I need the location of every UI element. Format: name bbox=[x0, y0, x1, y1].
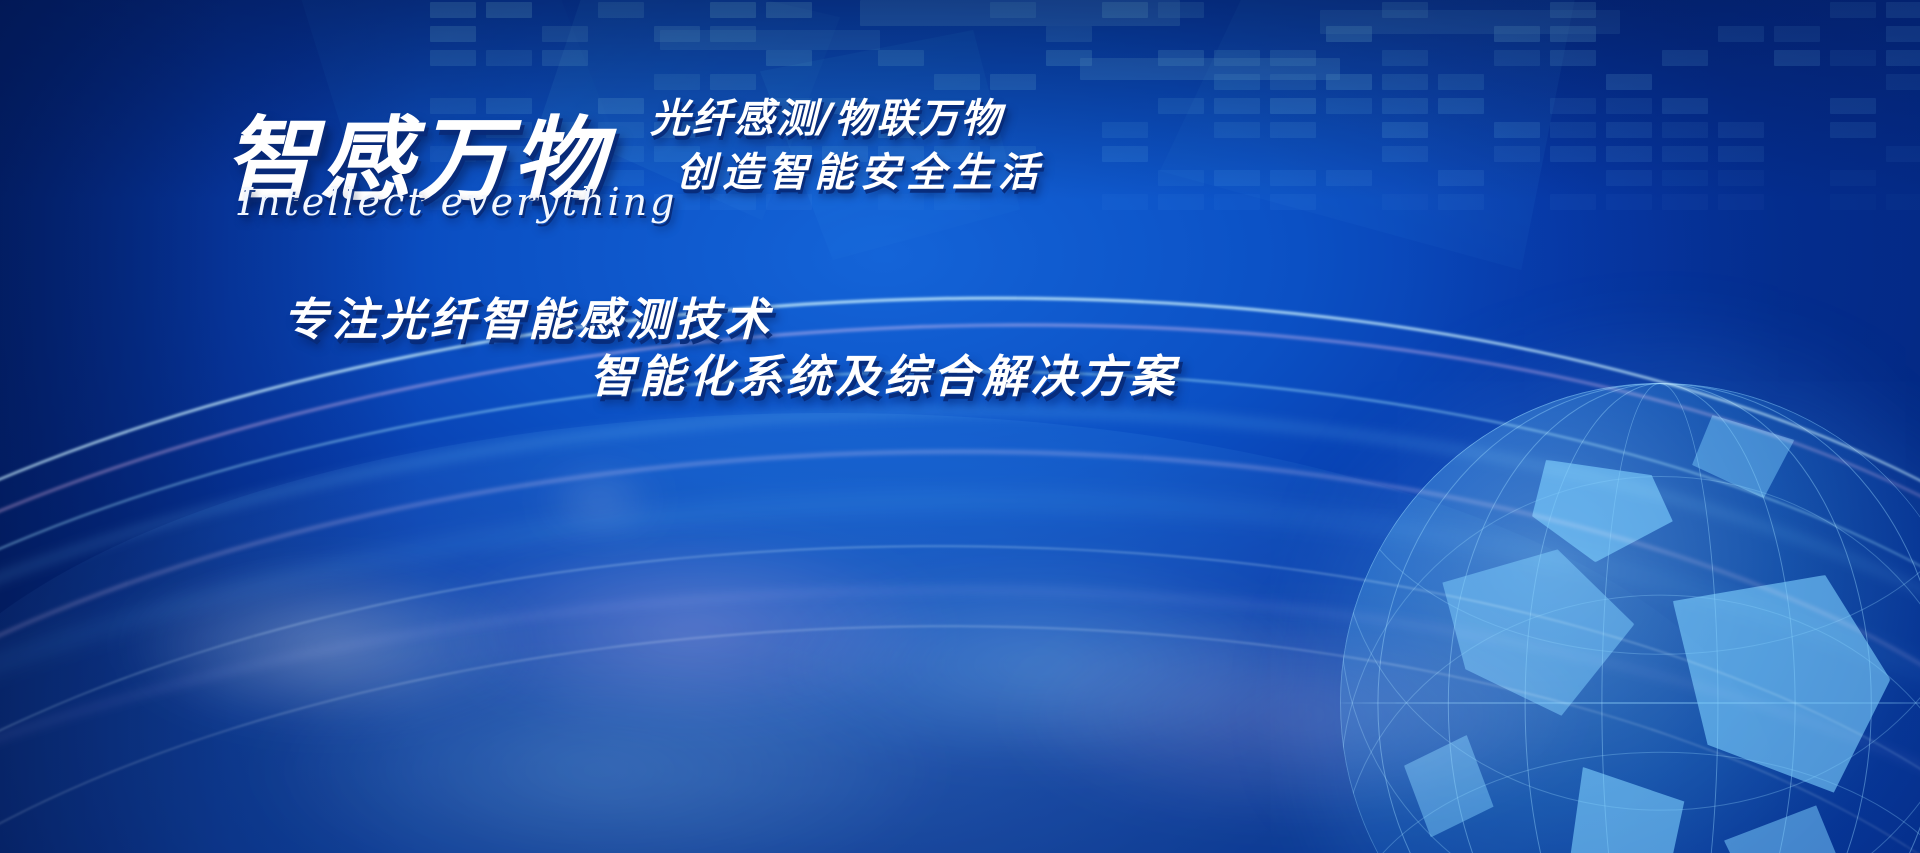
slogan-line-1: 光纤感测/物联万物 bbox=[650, 86, 1003, 144]
tech-banner: 智感万物 Intellect everything 光纤感测/物联万物 创造智能… bbox=[0, 0, 1920, 853]
slogan-line-2: 创造智能安全生活 bbox=[676, 140, 1044, 198]
globe-icon bbox=[1340, 383, 1920, 853]
page-subtitle-en: Intellect everything bbox=[238, 180, 677, 224]
tagline-line-2: 智能化系统及综合解决方案 bbox=[590, 340, 1178, 405]
tagline-line-1: 专注光纤智能感测技术 bbox=[283, 283, 773, 348]
